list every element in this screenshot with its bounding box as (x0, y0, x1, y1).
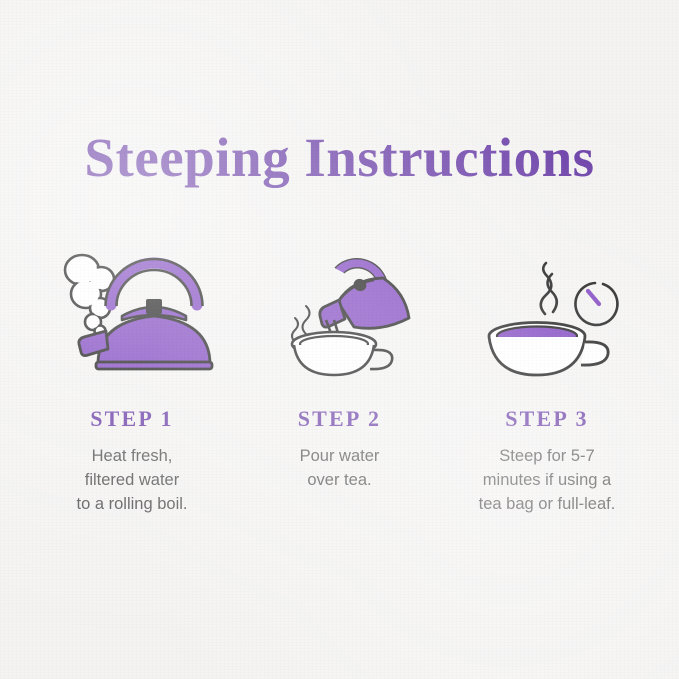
step-2: STEP 2 Pour water over tea. (242, 232, 438, 517)
step-1-label: STEP 1 (90, 406, 174, 432)
step-3-label: STEP 3 (505, 406, 589, 432)
step-3-body: Steep for 5-7 minutes if using a tea bag… (479, 445, 616, 517)
step-2-artwork (242, 232, 438, 382)
teacup-with-timer-icon (449, 232, 645, 382)
step-3: STEP 3 Steep for 5-7 minutes if using a … (449, 232, 645, 517)
step-1-artwork (34, 232, 230, 382)
kettle-pouring-into-cup-icon (242, 232, 438, 382)
step-3-artwork (449, 232, 645, 382)
step-1-body: Heat fresh, filtered water to a rolling … (77, 445, 188, 517)
steps-row: STEP 1 Heat fresh, filtered water to a r… (0, 232, 679, 517)
steeping-instructions-page: Steeping Instructions (0, 0, 679, 679)
kettle-boiling-icon (34, 232, 230, 382)
page-title: Steeping Instructions (0, 129, 679, 187)
step-2-label: STEP 2 (298, 406, 382, 432)
step-2-body: Pour water over tea. (300, 445, 380, 493)
step-1: STEP 1 Heat fresh, filtered water to a r… (34, 232, 230, 517)
